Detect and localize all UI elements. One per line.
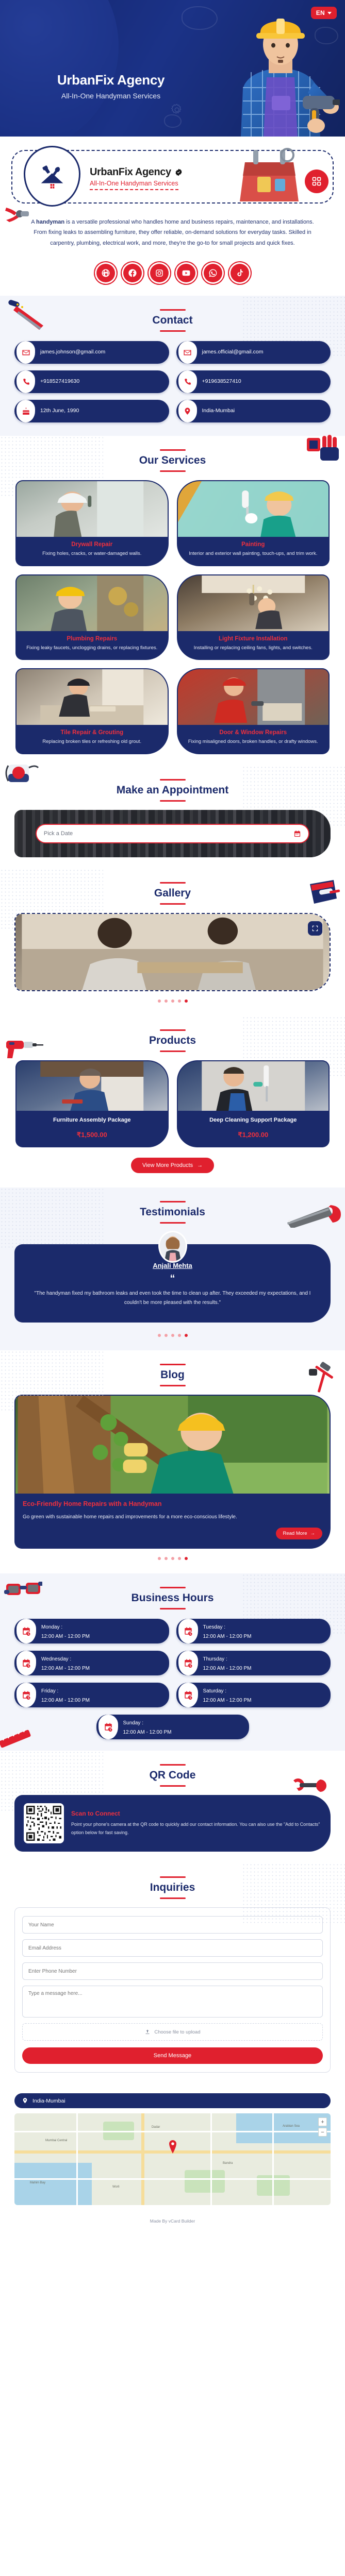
map-zoom-in-button[interactable]: + — [318, 2117, 327, 2126]
business-hours-time: 12:00 AM - 12:00 PM — [203, 1698, 252, 1703]
youtube-icon — [182, 268, 191, 278]
view-more-products-button[interactable]: View More Products → — [131, 1158, 214, 1173]
blog-dot[interactable] — [158, 1557, 161, 1560]
service-desc: Replacing broken tiles or refreshing old… — [22, 738, 162, 746]
product-name: Deep Cleaning Support Package — [183, 1116, 324, 1125]
blog-pagination[interactable] — [0, 1549, 345, 1562]
service-card[interactable]: Painting Interior and exterior wall pain… — [177, 480, 330, 566]
business-hours-row-sunday: Sunday :12:00 AM - 12:00 PM — [96, 1715, 249, 1739]
qr-section: QR Code — [0, 1751, 345, 1863]
logo-badge — [24, 146, 80, 207]
gallery-pagination[interactable] — [0, 991, 345, 1005]
service-desc: Interior and exterior wall painting, tou… — [183, 550, 324, 558]
qr-code-button[interactable] — [305, 170, 328, 193]
service-name: Plumbing Repairs — [22, 636, 162, 642]
products-grid: Furniture Assembly Package ₹1,500.00 — [0, 1052, 345, 1147]
contact-item-location[interactable]: India-Mumbai — [176, 400, 331, 422]
inquiries-title: Inquiries — [0, 1882, 345, 1894]
contact-value: james.johnson@gmail.com — [35, 349, 110, 356]
service-card[interactable]: Light Fixture Installation Installing or… — [177, 574, 330, 660]
business-hours-day: Friday : — [41, 1688, 58, 1694]
product-image — [178, 1061, 329, 1111]
hero-swirl — [0, 0, 119, 137]
map-road — [141, 2113, 144, 2205]
title-rule-bottom — [160, 1385, 186, 1386]
map-section: India-Mumbai Mumbai Central Dadar Mahim … — [14, 2093, 331, 2205]
map-water — [14, 2163, 92, 2205]
testimonial-pagination[interactable] — [0, 1326, 345, 1339]
file-upload-button[interactable]: Choose file to upload — [22, 2023, 323, 2041]
brand-card: UrbanFix Agency All-In-One Handyman Serv… — [0, 137, 345, 209]
service-card[interactable]: Door & Window Repairs Fixing misaligned … — [177, 668, 330, 754]
hero-worker-image — [211, 0, 340, 137]
title-rule-top — [160, 1201, 186, 1202]
service-image — [178, 575, 329, 631]
read-more-label: Read More — [283, 1531, 307, 1536]
social-link-whatsapp[interactable] — [204, 264, 222, 282]
intro-text: is a versatile professional who handles … — [34, 219, 314, 246]
testimonial-dot[interactable] — [158, 1334, 161, 1337]
map-label: Mahim Bay — [30, 2181, 45, 2184]
testimonial-dot[interactable] — [178, 1334, 181, 1337]
map-zoom-out-button[interactable]: − — [318, 2128, 327, 2137]
service-name: Door & Window Repairs — [183, 730, 324, 736]
service-name: Painting — [183, 541, 324, 548]
brand-name: UrbanFix Agency — [90, 166, 171, 178]
contact-title: Contact — [0, 314, 345, 327]
brand-text: UrbanFix Agency All-In-One Handyman Serv… — [90, 166, 183, 190]
contact-value: +918527419630 — [35, 378, 85, 385]
footer-credit: Made By vCard Builder — [0, 2210, 345, 2231]
service-image — [17, 481, 168, 537]
map-label: Dadar — [152, 2126, 160, 2129]
brand-tagline: All-In-One Handyman Services — [90, 180, 178, 190]
service-desc: Fixing holes, cracks, or water-damaged w… — [22, 550, 162, 558]
calendar-icon — [293, 830, 301, 838]
business-hours-section: Business Hours Monday :12:00 AM - 12:00 … — [0, 1573, 345, 1751]
service-image — [17, 669, 168, 725]
facebook-icon — [128, 268, 137, 278]
map-label: Mumbai Central — [45, 2139, 67, 2142]
business-hours-row: Thursday :12:00 AM - 12:00 PM — [176, 1651, 331, 1675]
social-link-website[interactable] — [96, 264, 115, 282]
product-card[interactable]: Furniture Assembly Package ₹1,500.00 — [15, 1060, 169, 1147]
gallery-title: Gallery — [0, 887, 345, 900]
title-rule-bottom — [160, 800, 186, 802]
service-image — [17, 575, 168, 631]
map-location-label: India-Mumbai — [32, 2098, 65, 2104]
blog-section: Blog Eco-F — [0, 1350, 345, 1573]
hero-title: UrbanFix Agency — [0, 72, 222, 88]
contact-item-birthday[interactable]: 12th June, 1990 — [14, 400, 169, 422]
business-hours-day: Thursday : — [203, 1656, 227, 1662]
message-field[interactable] — [22, 1986, 323, 2018]
map-park — [185, 2170, 225, 2193]
services-grid: Drywall Repair Fixing holes, cracks, or … — [0, 472, 345, 754]
map-road — [76, 2113, 78, 2205]
business-hours-row: Monday :12:00 AM - 12:00 PM — [14, 1619, 169, 1643]
email-icon — [17, 341, 35, 364]
business-hours-title: Business Hours — [0, 1592, 345, 1604]
title-rule-top — [160, 882, 186, 884]
qr-code-image — [24, 1803, 64, 1843]
contact-value: 12th June, 1990 — [35, 408, 84, 415]
service-desc: Fixing misaligned doors, broken handles,… — [183, 738, 324, 746]
expand-icon — [311, 925, 319, 932]
calendar-clock-icon — [17, 1619, 36, 1643]
calendar-clock-icon — [178, 1683, 198, 1707]
social-link-tiktok[interactable] — [231, 264, 249, 282]
contact-item-email-2[interactable]: james.official@gmail.com — [176, 341, 331, 364]
business-hours-time: 12:00 AM - 12:00 PM — [41, 1666, 90, 1671]
contact-value: India-Mumbai — [197, 408, 240, 415]
business-hours-grid: Monday :12:00 AM - 12:00 PM Tuesday :12:… — [0, 1609, 345, 1707]
service-card[interactable]: Drywall Repair Fixing holes, cracks, or … — [15, 480, 169, 566]
whatsapp-icon — [208, 268, 218, 278]
business-hours-day: Wednesday : — [41, 1656, 71, 1662]
instagram-icon — [155, 268, 164, 278]
contact-grid: james.johnson@gmail.com james.official@g… — [0, 332, 345, 425]
testimonial-author: Anjali Mehta — [27, 1262, 318, 1269]
website-icon — [101, 268, 110, 278]
social-links — [0, 255, 345, 296]
blog-card[interactable]: Eco-Friendly Home Repairs with a Handyma… — [14, 1395, 331, 1549]
service-name: Drywall Repair — [22, 541, 162, 548]
business-hours-time: 12:00 AM - 12:00 PM — [203, 1634, 252, 1639]
service-name: Tile Repair & Grouting — [22, 730, 162, 736]
business-hours-row: Friday :12:00 AM - 12:00 PM — [14, 1683, 169, 1707]
service-name: Light Fixture Installation — [183, 636, 324, 642]
business-hours-row: Saturday :12:00 AM - 12:00 PM — [176, 1683, 331, 1707]
blog-dot[interactable] — [165, 1557, 168, 1560]
products-section: Products Furniture Assembly Package — [0, 1016, 345, 1188]
appointment-card: Pick a Date — [14, 810, 331, 857]
phone-icon — [178, 370, 197, 393]
service-card[interactable]: Plumbing Repairs Fixing leaky faucets, u… — [15, 574, 169, 660]
business-hours-day: Saturday : — [203, 1688, 227, 1694]
title-rule-top — [160, 1764, 186, 1766]
phone-icon — [17, 370, 35, 393]
gallery-dot[interactable] — [165, 999, 168, 1003]
appointment-section: Make an Appointment Pick a Date — [0, 766, 345, 869]
map-label: Bandra — [223, 2162, 233, 2165]
hero-banner: EN UrbanFix Agency All-In-One Handyman S… — [0, 0, 345, 137]
social-link-facebook[interactable] — [123, 264, 142, 282]
gear-icon — [170, 103, 184, 116]
testimonial-dot[interactable] — [165, 1334, 168, 1337]
map-road — [14, 2131, 331, 2132]
product-name: Furniture Assembly Package — [22, 1116, 162, 1125]
product-price: ₹1,500.00 — [22, 1131, 162, 1139]
gallery-dot[interactable] — [158, 999, 161, 1003]
service-card[interactable]: Tile Repair & Grouting Replacing broken … — [15, 668, 169, 754]
contact-value: james.official@gmail.com — [197, 349, 269, 356]
testimonials-title: Testimonials — [0, 1206, 345, 1218]
business-hours-time: 12:00 AM - 12:00 PM — [41, 1634, 90, 1639]
contact-item-phone-1[interactable]: +918527419630 — [14, 370, 169, 393]
blog-post-desc: Go green with sustainable home repairs a… — [23, 1513, 322, 1521]
cake-icon — [17, 400, 35, 422]
business-hours-time: 12:00 AM - 12:00 PM — [41, 1698, 90, 1703]
map-label: Worli — [112, 2185, 120, 2189]
dot-pattern — [242, 1863, 345, 1925]
title-rule-top — [160, 779, 186, 781]
verified-badge-icon — [175, 168, 183, 176]
calendar-clock-icon — [98, 1715, 118, 1739]
social-link-youtube[interactable] — [177, 264, 195, 282]
email-field[interactable] — [22, 1939, 323, 1957]
gallery-section: Gallery — [0, 869, 345, 1016]
toolbag-image — [231, 132, 308, 210]
business-hours-time: 12:00 AM - 12:00 PM — [123, 1730, 172, 1735]
qr-title: QR Code — [0, 1769, 345, 1782]
service-desc: Installing or replacing ceiling fans, li… — [183, 645, 324, 652]
upload-icon — [144, 2029, 151, 2035]
service-image — [178, 481, 329, 537]
title-rule-top — [160, 1587, 186, 1588]
view-more-products-label: View More Products — [142, 1162, 193, 1168]
service-image — [178, 669, 329, 725]
map-road — [272, 2113, 274, 2205]
product-card[interactable]: Deep Cleaning Support Package ₹1,200.00 — [177, 1060, 330, 1147]
hero-subtitle: All-In-One Handyman Services — [0, 92, 222, 100]
business-hours-day: Sunday : — [123, 1720, 143, 1726]
testimonial-text: "The handyman fixed my bathroom leaks an… — [27, 1289, 318, 1307]
product-image — [17, 1061, 168, 1111]
map-label: Arabian Sea — [283, 2125, 300, 2128]
intro-paragraph: A handyman is a versatile professional w… — [0, 209, 345, 255]
services-section: Our Services Drywall Repair Fixing holes… — [0, 436, 345, 766]
calendar-clock-icon — [178, 1651, 198, 1675]
testimonial-container: Anjali Mehta “ "The handyman fixed my ba… — [0, 1224, 345, 1326]
location-icon — [22, 2097, 28, 2104]
testimonial-dot[interactable] — [171, 1334, 174, 1337]
qr-text-block: Scan to Connect Point your phone's camer… — [71, 1810, 321, 1837]
blog-dot[interactable] — [178, 1557, 181, 1560]
map-canvas[interactable]: Mumbai Central Dadar Mahim Bay Bandra Wo… — [14, 2113, 331, 2205]
gallery-dot-active[interactable] — [185, 999, 188, 1003]
arrow-right-icon: → — [310, 1531, 316, 1536]
qr-description: Point your phone's camera at the QR code… — [71, 1821, 321, 1837]
inquiry-form: Choose file to upload Send Message — [14, 1907, 331, 2073]
business-hours-day: Tuesday : — [203, 1624, 226, 1630]
blog-title: Blog — [0, 1369, 345, 1381]
file-upload-label: Choose file to upload — [154, 2029, 200, 2035]
title-rule-top — [160, 1364, 186, 1365]
title-rule-top — [160, 1029, 186, 1031]
pliers-icon — [5, 205, 32, 223]
blog-dot-active[interactable] — [185, 1557, 188, 1560]
title-rule-bottom — [160, 1785, 186, 1787]
language-label: EN — [316, 9, 325, 16]
qr-heading: Scan to Connect — [71, 1810, 321, 1817]
vcard-page: EN UrbanFix Agency All-In-One Handyman S… — [0, 0, 345, 2231]
blog-image — [15, 1396, 330, 1494]
contact-item-phone-2[interactable]: +919638527410 — [176, 370, 331, 393]
intro-bold: handyman — [36, 219, 64, 225]
title-rule-top — [160, 1876, 186, 1878]
gallery-dot[interactable] — [171, 999, 174, 1003]
location-icon — [178, 400, 197, 422]
arrow-right-icon: → — [197, 1162, 203, 1168]
contact-value: +919638527410 — [197, 378, 247, 385]
hammer-wrench-house-logo-icon — [36, 160, 68, 192]
business-hours-row: Wednesday :12:00 AM - 12:00 PM — [14, 1651, 169, 1675]
hero-text-block: UrbanFix Agency All-In-One Handyman Serv… — [0, 72, 222, 100]
title-rule-top — [160, 309, 186, 311]
business-hours-day: Monday : — [41, 1624, 62, 1630]
gallery-slide[interactable] — [14, 913, 331, 991]
title-rule-bottom — [160, 1897, 186, 1899]
title-rule-top — [160, 449, 186, 451]
date-picker-placeholder: Pick a Date — [44, 831, 73, 837]
contact-item-email-1[interactable]: james.johnson@gmail.com — [14, 341, 169, 364]
email-icon — [178, 341, 197, 364]
phone-field[interactable] — [22, 1962, 323, 1980]
brand-dashed-frame: UrbanFix Agency All-In-One Handyman Serv… — [11, 150, 334, 204]
title-rule-bottom — [160, 903, 186, 905]
gallery-dot[interactable] — [178, 999, 181, 1003]
read-more-button[interactable]: Read More → — [276, 1528, 323, 1539]
map-road — [14, 2178, 331, 2180]
appointment-title: Make an Appointment — [0, 784, 345, 796]
inquiries-section: Inquiries Choose file to upload Send Mes… — [0, 1863, 345, 2084]
quote-icon: “ — [27, 1276, 318, 1282]
qr-card: Scan to Connect Point your phone's camer… — [14, 1795, 331, 1852]
language-selector[interactable]: EN — [311, 7, 337, 19]
map-water — [236, 2113, 331, 2143]
business-hours-time: 12:00 AM - 12:00 PM — [203, 1666, 252, 1671]
services-title: Our Services — [0, 454, 345, 467]
map-road — [210, 2113, 212, 2205]
blog-post-title: Eco-Friendly Home Repairs with a Handyma… — [23, 1500, 322, 1507]
products-title: Products — [0, 1035, 345, 1047]
qr-grid-icon — [311, 176, 322, 187]
gallery-expand-button[interactable] — [308, 921, 322, 936]
map-pin-icon — [168, 2140, 177, 2154]
calendar-clock-icon — [178, 1619, 198, 1643]
business-hours-row: Tuesday :12:00 AM - 12:00 PM — [176, 1619, 331, 1643]
calendar-clock-icon — [17, 1683, 36, 1707]
calendar-clock-icon — [17, 1651, 36, 1675]
product-price: ₹1,200.00 — [183, 1131, 324, 1139]
chevron-down-icon — [327, 12, 332, 14]
contact-section: Contact james.johnson@gmail.com james.of… — [0, 296, 345, 436]
blog-dot[interactable] — [171, 1557, 174, 1560]
tiktok-icon — [235, 268, 244, 278]
map-location-header: India-Mumbai — [14, 2093, 331, 2108]
send-message-button[interactable]: Send Message — [22, 2047, 323, 2064]
social-link-instagram[interactable] — [150, 264, 169, 282]
testimonials-section: Testimonials Anjali Mehta “ — [0, 1188, 345, 1350]
service-desc: Fixing leaky faucets, unclogging drains,… — [22, 645, 162, 652]
date-picker[interactable]: Pick a Date — [37, 825, 308, 842]
testimonial-dot-active[interactable] — [185, 1334, 188, 1337]
